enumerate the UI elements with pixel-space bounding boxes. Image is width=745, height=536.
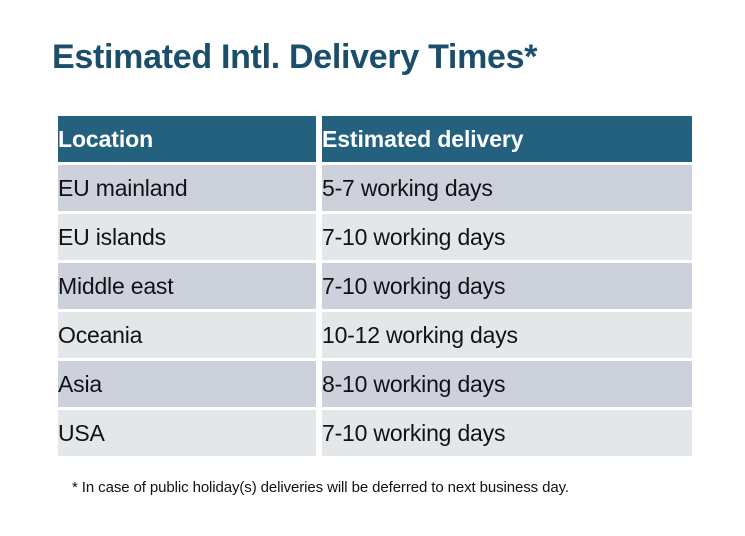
column-header-location: Location: [58, 116, 316, 162]
footnote-text: * In case of public holiday(s) deliverie…: [72, 479, 569, 496]
table-header-row: Location Estimated delivery: [58, 116, 692, 162]
table-row: Oceania 10-12 working days: [58, 312, 692, 358]
cell-location: USA: [58, 410, 316, 456]
table-body: EU mainland 5-7 working days EU islands …: [58, 165, 692, 456]
cell-location: EU mainland: [58, 165, 316, 211]
cell-estimated-delivery: 5-7 working days: [322, 165, 692, 211]
cell-location: Oceania: [58, 312, 316, 358]
delivery-times-table: Location Estimated delivery EU mainland …: [52, 113, 698, 459]
cell-location: Asia: [58, 361, 316, 407]
column-header-estimated-delivery: Estimated delivery: [322, 116, 692, 162]
cell-estimated-delivery: 10-12 working days: [322, 312, 692, 358]
table-header: Location Estimated delivery: [58, 116, 692, 162]
page-title: Estimated Intl. Delivery Times*: [52, 36, 537, 78]
table-row: Middle east 7-10 working days: [58, 263, 692, 309]
delivery-times-page: Estimated Intl. Delivery Times* Location…: [0, 0, 745, 536]
cell-location: EU islands: [58, 214, 316, 260]
cell-estimated-delivery: 7-10 working days: [322, 410, 692, 456]
table-row: EU mainland 5-7 working days: [58, 165, 692, 211]
table-row: USA 7-10 working days: [58, 410, 692, 456]
table-row: EU islands 7-10 working days: [58, 214, 692, 260]
cell-estimated-delivery: 8-10 working days: [322, 361, 692, 407]
cell-estimated-delivery: 7-10 working days: [322, 214, 692, 260]
table-row: Asia 8-10 working days: [58, 361, 692, 407]
cell-estimated-delivery: 7-10 working days: [322, 263, 692, 309]
cell-location: Middle east: [58, 263, 316, 309]
